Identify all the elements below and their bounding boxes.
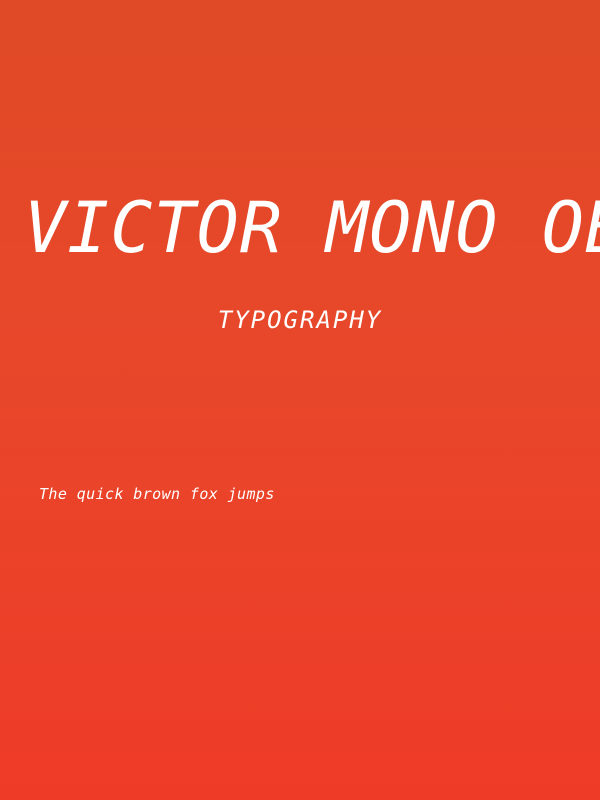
sample-text-row: The quick brown fox jumps [0,483,600,505]
font-specimen-canvas: VICTOR MONO OBLIQUE TYPOGRAPHY The quick… [0,0,600,800]
display-title-row: VICTOR MONO OBLIQUE [0,186,600,270]
subtitle-label: TYPOGRAPHY [218,306,383,334]
subtitle-row: TYPOGRAPHY [0,303,600,337]
pangram-sample-text: The quick brown fox jumps [0,483,600,505]
page-title: VICTOR MONO OBLIQUE [0,186,600,270]
